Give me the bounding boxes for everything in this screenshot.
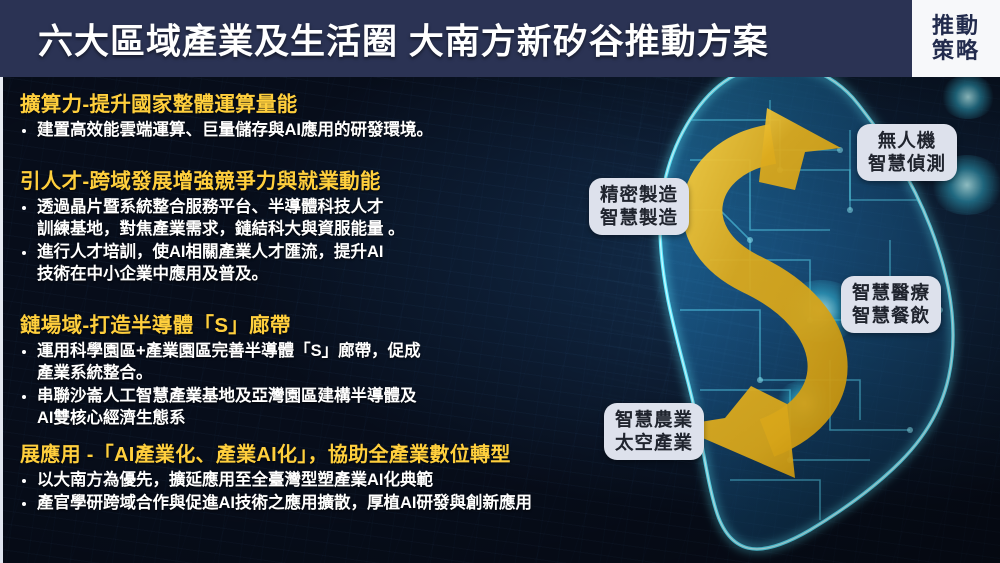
bullet-item: 產官學研跨域合作與促進AI技術之應用擴散，厚植AI研發與創新應用 bbox=[12, 493, 640, 515]
content-column: 擴算力-提升國家整體運算量能 建置高效能雲端運算、巨量儲存與AI應用的研發環境。… bbox=[0, 77, 640, 563]
callout-line2: 智慧餐飲 bbox=[852, 305, 930, 328]
callout-drone-detection: 無人機 智慧偵測 bbox=[857, 124, 957, 181]
section-bullets-3: 以大南方為優先，擴延應用至全臺灣型塑產業AI化典範 產官學研跨域合作與促進AI技… bbox=[12, 470, 640, 515]
callout-precision-manufacturing: 精密製造 智慧製造 bbox=[589, 178, 689, 235]
callout-line2: 智慧製造 bbox=[600, 207, 678, 230]
section-heading-3: 展應用 -「AI產業化、產業AI化」，協助全產業數位轉型 bbox=[20, 438, 640, 467]
callout-line1: 智慧農業 bbox=[615, 409, 693, 432]
title-bar: 六大區域產業及生活圈 大南方新矽谷推動方案 bbox=[0, 0, 1000, 77]
callout-line1: 精密製造 bbox=[600, 184, 678, 207]
strategy-badge-line1: 推動 bbox=[932, 14, 980, 39]
callout-smart-medical-dining: 智慧醫療 智慧餐飲 bbox=[841, 276, 941, 333]
callout-line2: 智慧偵測 bbox=[868, 153, 946, 176]
callout-line1: 智慧醫療 bbox=[852, 282, 930, 305]
strategy-badge: 推動 策略 bbox=[912, 0, 1000, 77]
slide-canvas: 六大區域產業及生活圈 大南方新矽谷推動方案 推動 策略 擴算力-提升國家整體運算… bbox=[0, 0, 1000, 563]
section-bullets-0: 建置高效能雲端運算、巨量儲存與AI應用的研發環境。 bbox=[12, 120, 640, 142]
section-heading-0: 擴算力-提升國家整體運算量能 bbox=[20, 87, 640, 117]
bullet-item: 以大南方為優先，擴延應用至全臺灣型塑產業AI化典範 bbox=[12, 470, 640, 492]
section-bullets-2: 運用科學園區+產業園區完善半導體「S」廊帶，促成 產業系統整合。 串聯沙崙人工智… bbox=[12, 341, 640, 430]
bullet-item: 透過晶片暨系統整合服務平台、半導體科技人才 訓練基地，對焦產業需求，鏈結科大與資… bbox=[12, 197, 640, 241]
bullet-item: 進行人才培訓，使AI相關產業人才匯流，提升AI 技術在中小企業中應用及普及。 bbox=[12, 242, 640, 286]
section-heading-1: 引人才-跨域發展增強競爭力與就業動能 bbox=[20, 164, 640, 194]
section-bullets-1: 透過晶片暨系統整合服務平台、半導體科技人才 訓練基地，對焦產業需求，鏈結科大與資… bbox=[12, 197, 640, 286]
section-heading-2: 鏈場域-打造半導體「S」廊帶 bbox=[20, 308, 640, 338]
callout-line1: 無人機 bbox=[878, 130, 937, 153]
callout-line2: 太空產業 bbox=[615, 432, 693, 455]
bullet-item: 運用科學園區+產業園區完善半導體「S」廊帶，促成 產業系統整合。 bbox=[12, 341, 640, 385]
page-title: 六大區域產業及生活圈 大南方新矽谷推動方案 bbox=[38, 13, 769, 64]
callout-smart-agri-space: 智慧農業 太空產業 bbox=[604, 403, 704, 460]
bullet-item: 建置高效能雲端運算、巨量儲存與AI應用的研發環境。 bbox=[12, 120, 640, 142]
bullet-item: 串聯沙崙人工智慧產業基地及亞灣園區建構半導體及 AI雙核心經濟生態系 bbox=[12, 386, 640, 430]
left-edge-strip bbox=[0, 77, 3, 563]
strategy-badge-line2: 策略 bbox=[932, 39, 980, 64]
